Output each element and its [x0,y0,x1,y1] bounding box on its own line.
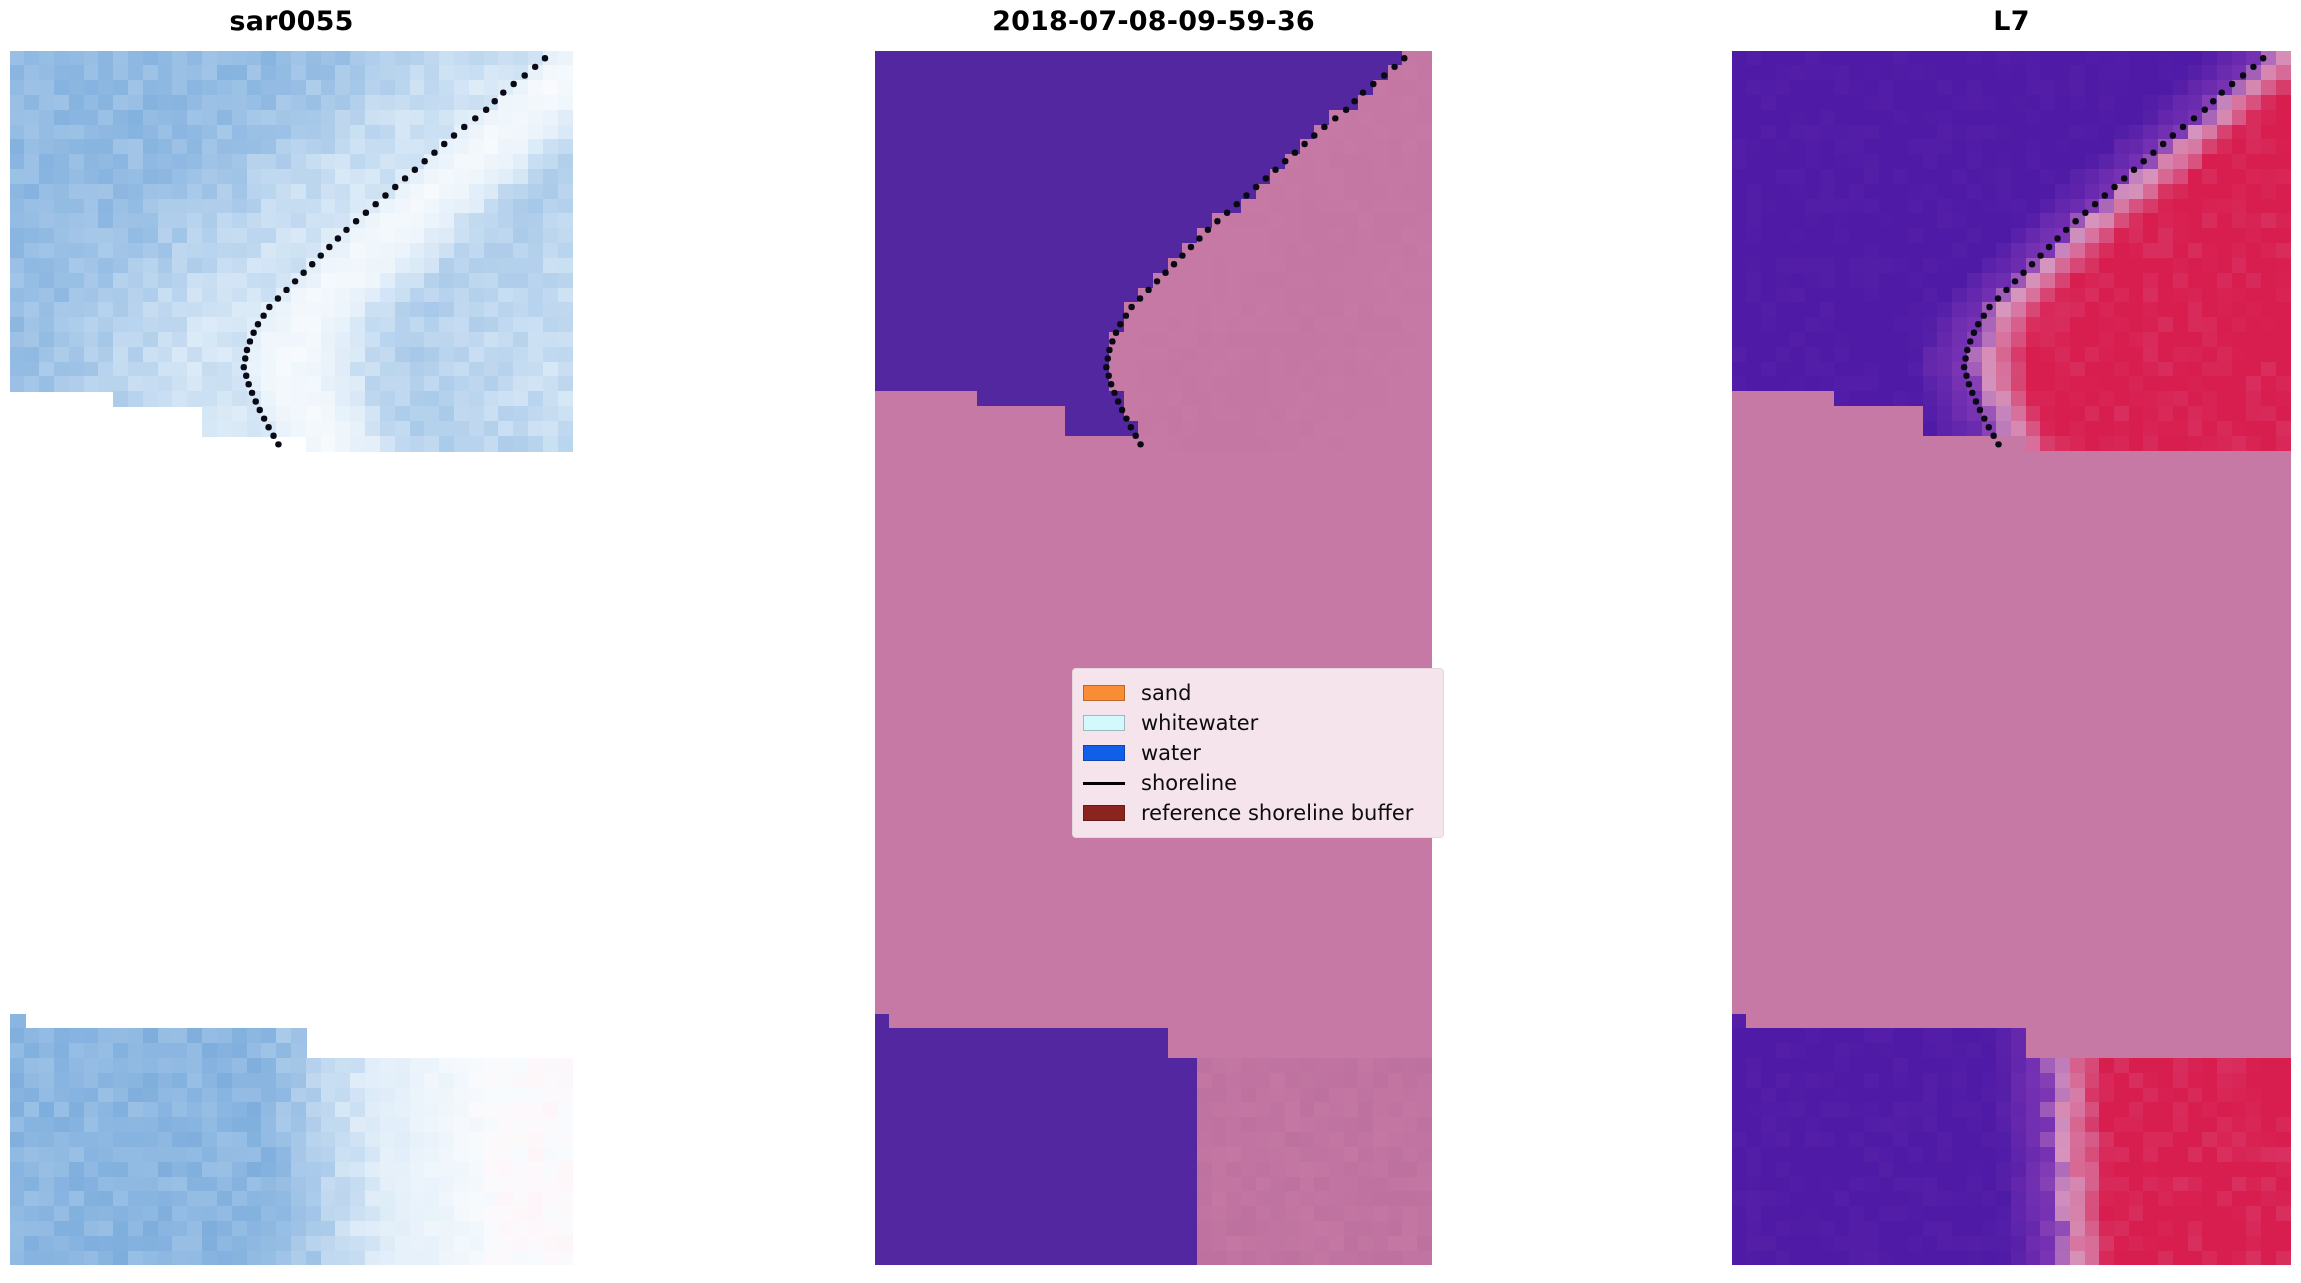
legend-item-shoreline: shoreline [1083,768,1431,798]
legend-item-whitewater: whitewater [1083,708,1431,738]
panel-l7: L7 [1732,0,2291,1283]
legend-label-shoreline: shoreline [1141,773,1237,794]
legend-swatch-whitewater [1083,715,1125,731]
legend-label-water: water [1141,743,1201,764]
legend-label-sand: sand [1141,683,1191,704]
legend-item-water: water [1083,738,1431,768]
legend-box: sand whitewater water shoreline referenc… [1072,668,1444,838]
panel-sar: sar0055 [10,0,573,1283]
panel-image-l7 [1732,51,2291,1265]
panel-title-l7: L7 [1732,0,2291,44]
legend-swatch-shoreline [1083,782,1125,785]
raster-canvas-l7 [1732,51,2291,1265]
legend-swatch-water [1083,745,1125,761]
panel-title-classification: 2018-07-08-09-59-36 [875,0,1432,44]
legend-swatch-reference-shoreline-buffer [1083,805,1125,821]
panel-image-sar [10,51,573,1265]
legend-item-reference-shoreline-buffer: reference shoreline buffer [1083,798,1431,828]
raster-canvas-classification [875,51,1432,1265]
legend-label-reference-shoreline-buffer: reference shoreline buffer [1141,803,1413,824]
panel-classification: 2018-07-08-09-59-36 sand whitewater wate… [875,0,1432,1283]
legend-swatch-sand [1083,685,1125,701]
raster-canvas-sar [10,51,573,1265]
panel-image-classification [875,51,1432,1265]
legend-label-whitewater: whitewater [1141,713,1258,734]
figure-root: sar0055 2018-07-08-09-59-36 sand whitewa… [0,0,2301,1283]
legend-item-sand: sand [1083,678,1431,708]
panel-title-sar: sar0055 [10,0,573,44]
